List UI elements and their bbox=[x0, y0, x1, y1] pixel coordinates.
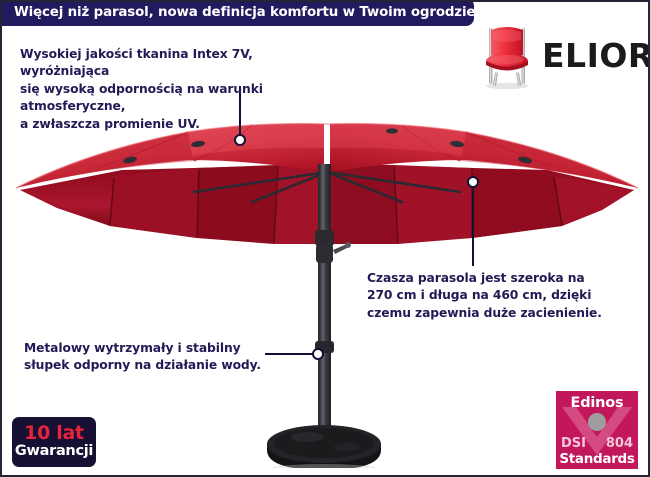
callout-fabric-line3: a zwłaszcza promienie UV. bbox=[20, 116, 288, 133]
callout-fabric-line2: się wysoką odpornością na warunki atmosf… bbox=[20, 81, 288, 116]
red-chair-icon bbox=[478, 20, 536, 90]
header-banner: Więcej niż parasol, nowa definicja komfo… bbox=[0, 0, 474, 26]
edinos-title: Edinos bbox=[556, 395, 638, 411]
callout-canopy-line3: czemu zapewnia duże zacienienie. bbox=[367, 305, 629, 322]
product-infographic: Więcej niż parasol, nowa definicja komfo… bbox=[0, 0, 650, 477]
warranty-years: 10 lat bbox=[24, 424, 84, 443]
callout-fabric-line1: Wysokiej jakości tkanina Intex 7V, wyróż… bbox=[20, 46, 288, 81]
callout-fabric: Wysokiej jakości tkanina Intex 7V, wyróż… bbox=[20, 46, 288, 133]
leader-line-canopy bbox=[472, 188, 474, 266]
edinos-standards-badge: Edinos DSI 804 Standards bbox=[556, 391, 638, 469]
brand-logo: ELIOR bbox=[478, 18, 634, 92]
callout-canopy-line2: 270 cm i długa na 460 cm, dzięki bbox=[367, 287, 629, 304]
callout-canopy-line1: Czasza parasola jest szeroka na bbox=[367, 270, 629, 287]
leader-line-pole bbox=[265, 353, 315, 355]
callout-pole-line1: Metalowy wytrzymały i stabilny bbox=[24, 340, 266, 357]
callout-canopy-size: Czasza parasola jest szeroka na 270 cm i… bbox=[367, 270, 629, 322]
warranty-badge: 10 lat Gwarancji bbox=[12, 417, 96, 467]
edinos-number: 804 bbox=[606, 436, 633, 451]
header-banner-text: Więcej niż parasol, nowa definicja komfo… bbox=[14, 5, 481, 20]
warranty-label: Gwarancji bbox=[15, 444, 93, 460]
edinos-dsi-label: DSI bbox=[561, 436, 586, 451]
callout-dot-canopy bbox=[467, 176, 479, 188]
callout-dot-fabric bbox=[234, 134, 246, 146]
edinos-standards-label: Standards bbox=[556, 451, 638, 467]
callout-pole: Metalowy wytrzymały i stabilny słupek od… bbox=[24, 340, 266, 375]
callout-dot-pole bbox=[312, 348, 324, 360]
callout-pole-line2: słupek odporny na działanie wody. bbox=[24, 357, 266, 374]
brand-name: ELIOR bbox=[542, 39, 650, 72]
